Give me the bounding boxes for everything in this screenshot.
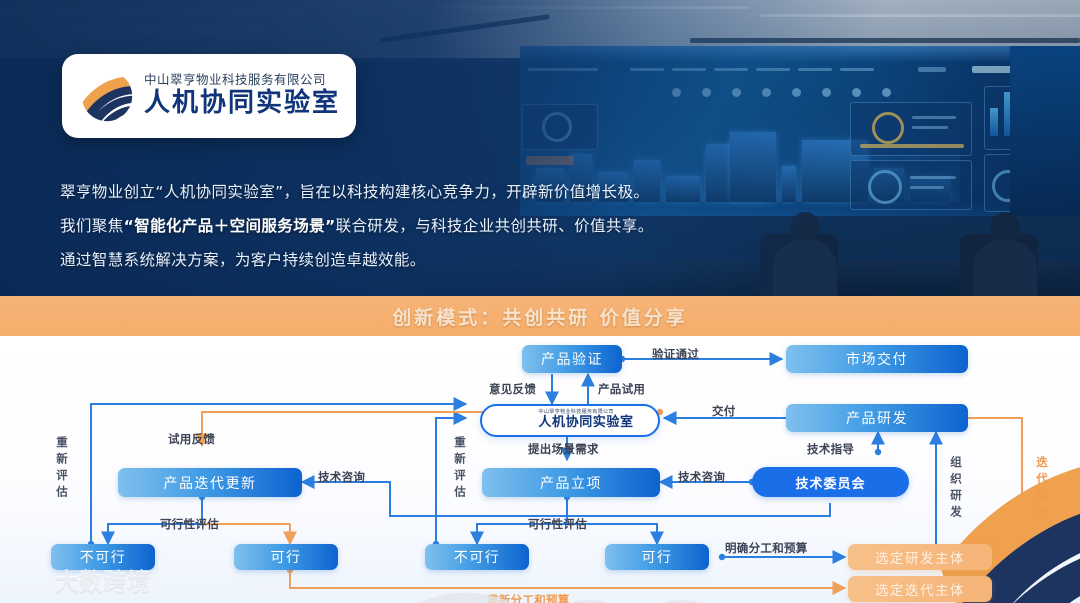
node-human-machine-lab[interactable]: 中山翠亨物业科技服务有限公司 人机协同实验室: [480, 404, 660, 437]
node-product-rd[interactable]: 产品研发: [786, 404, 968, 432]
hero-line-3: 通过智慧系统解决方案，为客户持续创造卓越效能。: [60, 248, 820, 272]
label-feasibility-right: 可行性评估: [528, 516, 587, 532]
node-tech-committee[interactable]: 技术委员会: [752, 467, 909, 497]
hero-line-2: 我们聚焦“智能化产品＋空间服务场景”联合研发，与科技企业共创共研、价值共享。: [60, 214, 820, 238]
label-tech-consult-left: 技术咨询: [318, 469, 365, 485]
banner-title: 创新模式：共创共研 价值分享: [392, 303, 688, 330]
flowchart-section: 产品验证 市场交付 中山翠亨物业科技服务有限公司 人机协同实验室: [0, 336, 1080, 603]
label-validation-passed: 验证通过: [652, 346, 699, 362]
lab-globe-icon: [506, 408, 532, 434]
node-product-iteration[interactable]: 产品迭代更新: [118, 468, 302, 497]
logo-lab-name: 人机协同实验室: [144, 89, 340, 119]
node-product-initiation[interactable]: 产品立项: [482, 468, 660, 497]
label-clear-division-budget: 明确分工和预算: [725, 540, 808, 556]
logo-company-name: 中山翠亨物业科技服务有限公司: [144, 73, 340, 87]
globe-swoosh-logo-icon: [76, 65, 138, 127]
label-tech-guidance: 技术指导: [807, 441, 854, 457]
label-raise-scene-demand: 提出场景需求: [528, 441, 599, 457]
label-organize-rd: 组织研发: [948, 456, 964, 522]
label-product-trial: 产品试用: [598, 381, 645, 397]
slide-root: 中山翠亨物业科技服务有限公司 人机协同实验室 翠亨物业创立“人机协同实验室”，旨…: [0, 0, 1080, 603]
lab-logo-card: 中山翠亨物业科技服务有限公司 人机协同实验室: [62, 54, 356, 138]
hero-description: 翠亨物业创立“人机协同实验室”，旨在以科技构建核心竞争力，开辟新价值增长极。 我…: [60, 180, 820, 282]
hero-section: 中山翠亨物业科技服务有限公司 人机协同实验室 翠亨物业创立“人机协同实验室”，旨…: [0, 0, 1080, 296]
node-market-delivery[interactable]: 市场交付: [786, 345, 968, 373]
section-banner: 创新模式：共创共研 价值分享: [0, 296, 1080, 336]
label-tech-consult-right: 技术咨询: [678, 469, 725, 485]
label-reassess-left: 重新评估: [54, 436, 70, 502]
label-trial-feedback: 试用反馈: [168, 431, 215, 447]
label-feasibility-left: 可行性评估: [160, 516, 219, 532]
label-delivery: 交付: [712, 403, 736, 419]
label-iterative-rd: 迭代研发: [1034, 456, 1050, 522]
paw-watermark-icon: [8, 567, 48, 593]
hero-line-1: 翠亨物业创立“人机协同实验室”，旨在以科技构建核心竞争力，开辟新价值增长极。: [60, 180, 820, 204]
watermark: 大数跨境: [8, 563, 151, 597]
node-product-validation[interactable]: 产品验证: [522, 345, 622, 373]
label-opinion-feedback: 意见反馈: [489, 381, 536, 397]
label-reassess-center: 重新评估: [452, 436, 468, 502]
